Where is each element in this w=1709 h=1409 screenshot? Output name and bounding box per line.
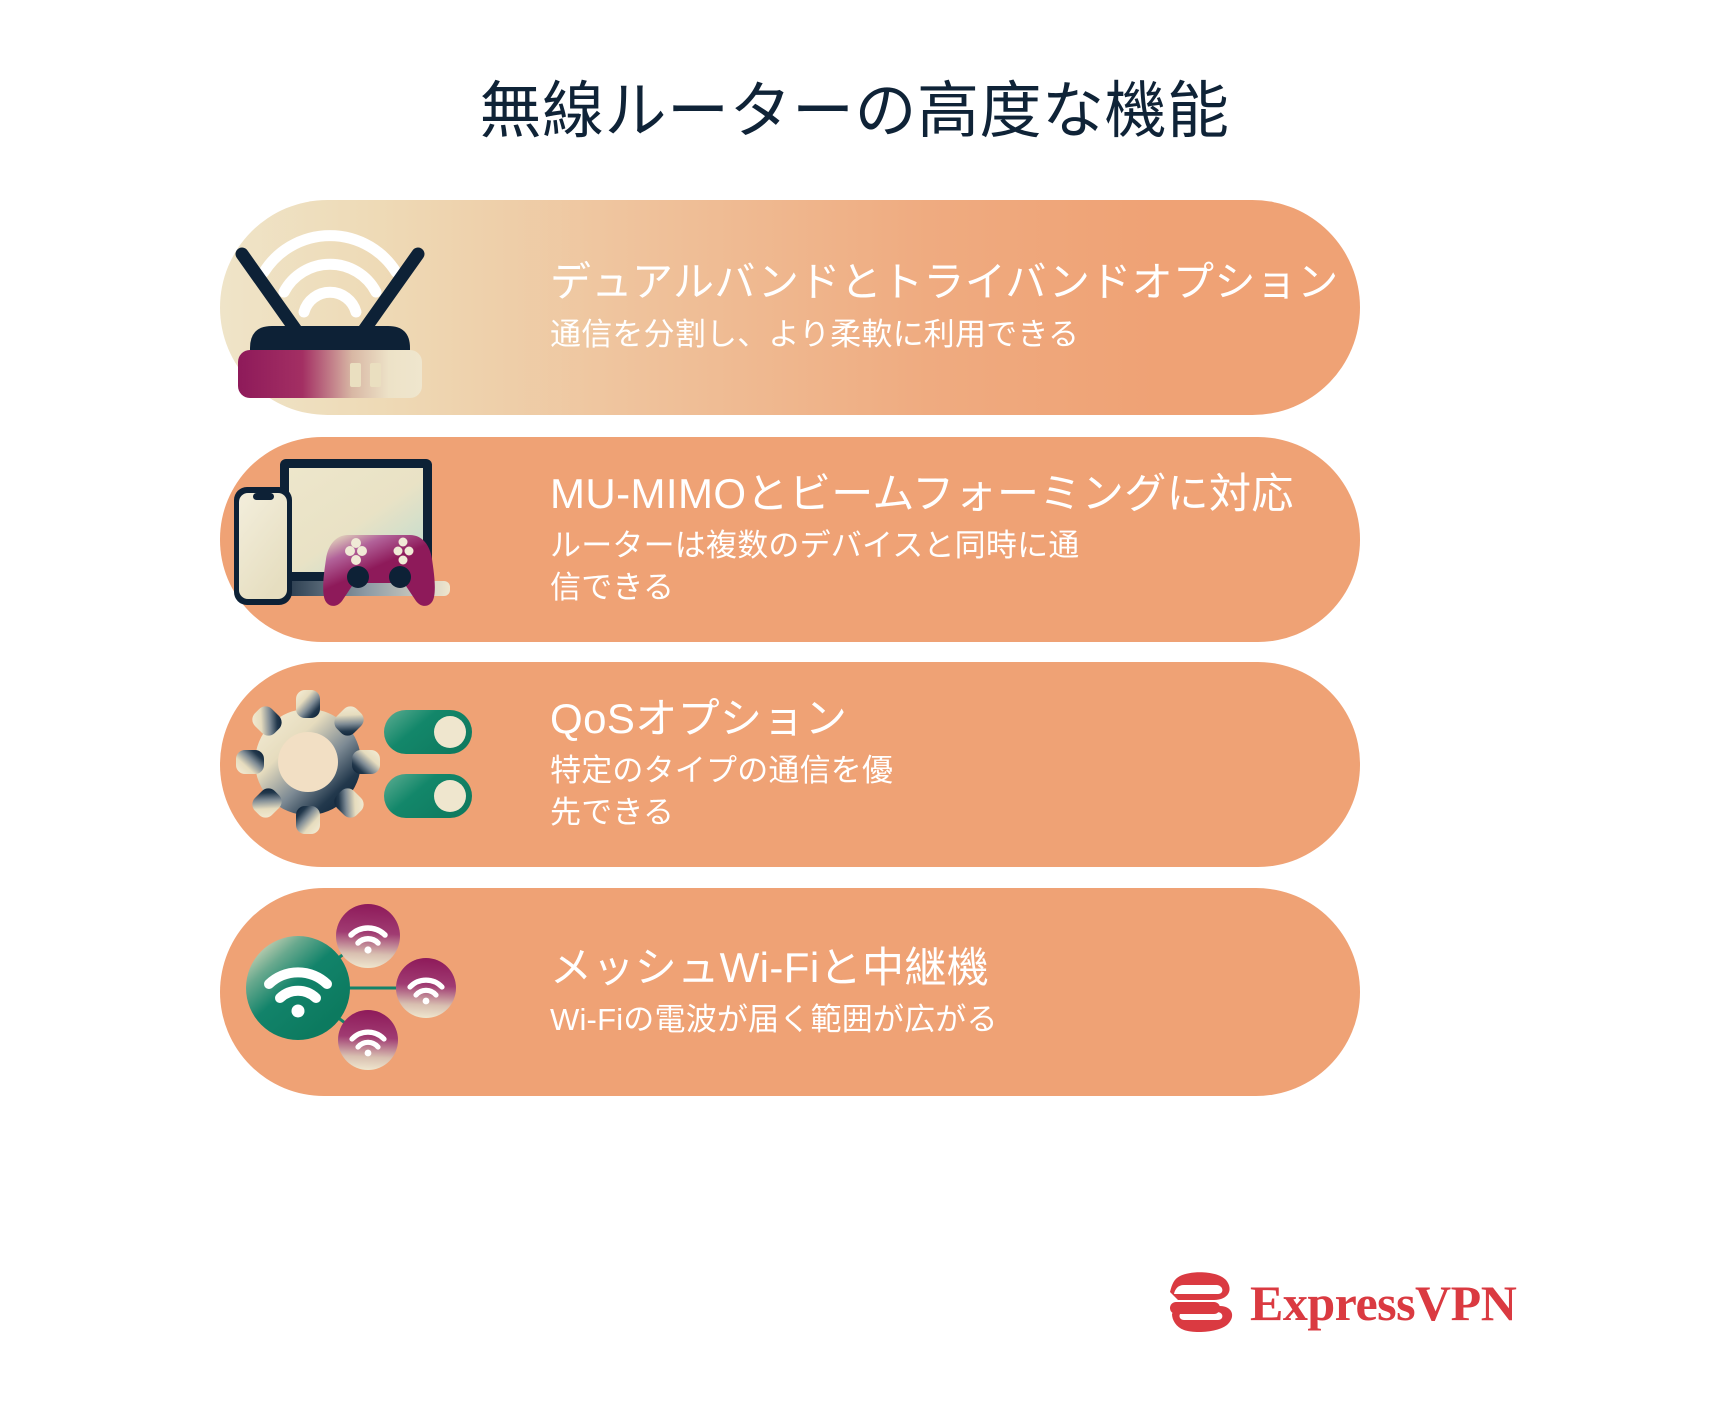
text-slot: メッシュWi-Fiと中継機 Wi-Fiの電波が届く範囲が広がる: [550, 944, 1360, 1041]
card-subtitle: Wi-Fiの電波が届く範囲が広がる: [550, 999, 1320, 1041]
infographic-page: 無線ルーターの高度な機能: [0, 0, 1709, 1409]
card-subtitle: 特定のタイプの通信を優 先できる: [550, 750, 1320, 834]
toggle-switch-lower: [384, 774, 472, 818]
feature-card-dual-band: デュアルバンドとトライバンドオプション 通信を分割し、より柔軟に利用できる: [220, 200, 1360, 415]
toggle-switch-upper: [384, 710, 472, 754]
card-title: QoSオプション: [550, 695, 1320, 742]
card-subtitle: 通信を分割し、より柔軟に利用できる: [550, 314, 1339, 356]
feature-card-mu-mimo: MU-MIMOとビームフォーミングに対応 ルーターは複数のデバイスと同時に通 信…: [220, 437, 1360, 642]
brand-name: ExpressVPN: [1250, 1278, 1516, 1328]
card-title: メッシュWi-Fiと中継機: [550, 944, 1320, 991]
wireless-router-icon: [220, 200, 550, 415]
card-subtitle: ルーターは複数のデバイスと同時に通 信できる: [550, 525, 1320, 609]
icon-slot: [220, 888, 550, 1096]
mesh-satellite-right: [396, 958, 456, 1018]
icon-slot: [220, 437, 550, 642]
mesh-main-node: [246, 936, 350, 1040]
card-title: MU-MIMOとビームフォーミングに対応: [550, 470, 1320, 517]
feature-card-qos: QoSオプション 特定のタイプの通信を優 先できる: [220, 662, 1360, 867]
feature-card-mesh-wifi: メッシュWi-Fiと中継機 Wi-Fiの電波が届く範囲が広がる: [220, 888, 1360, 1096]
mesh-satellite-bottom: [338, 1010, 398, 1070]
mesh-satellite-top: [336, 904, 400, 968]
expressvpn-logo: ExpressVPN: [1162, 1272, 1516, 1334]
icon-slot: [220, 662, 550, 867]
gear-toggles-icon: [220, 662, 550, 867]
expressvpn-logo-mark: [1162, 1272, 1236, 1334]
icon-slot: [220, 200, 550, 415]
page-title: 無線ルーターの高度な機能: [0, 78, 1709, 146]
text-slot: デュアルバンドとトライバンドオプション 通信を分割し、より柔軟に利用できる: [550, 260, 1379, 356]
multi-device-icon: [220, 437, 550, 642]
text-slot: QoSオプション 特定のタイプの通信を優 先できる: [550, 695, 1360, 834]
card-title: デュアルバンドとトライバンドオプション: [550, 260, 1339, 306]
mesh-network-icon: [220, 888, 550, 1096]
text-slot: MU-MIMOとビームフォーミングに対応 ルーターは複数のデバイスと同時に通 信…: [550, 470, 1360, 609]
